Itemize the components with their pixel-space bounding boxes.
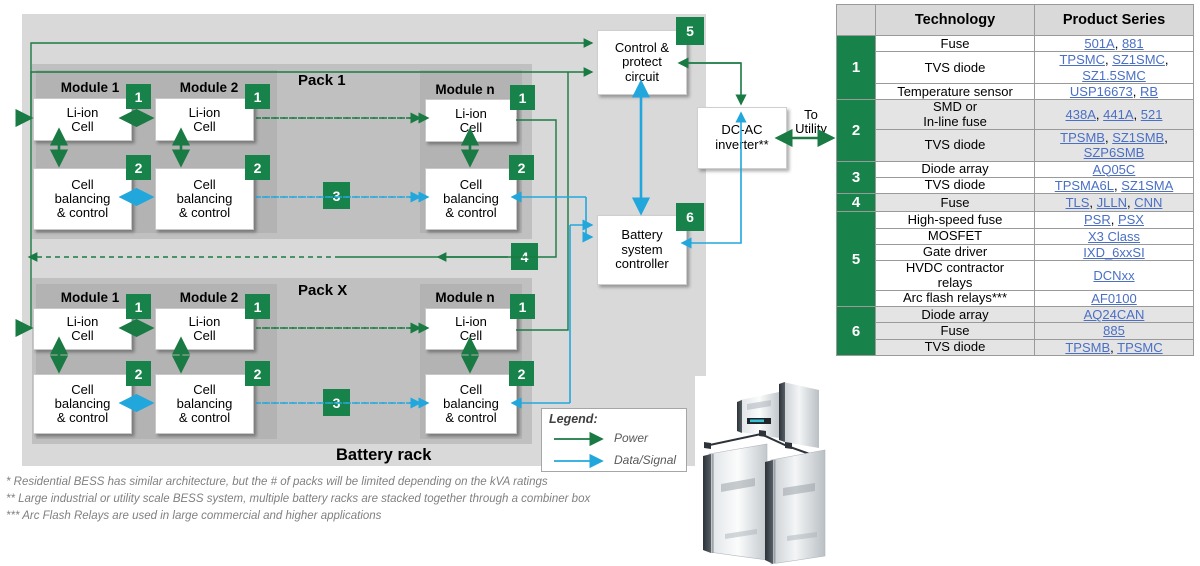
pack-x-module-2-cell: Li-ion Cell	[155, 308, 254, 350]
product-series-cell: 438A, 441A, 521	[1035, 100, 1194, 130]
product-link[interactable]: 501A	[1084, 36, 1114, 51]
group-number-2: 2	[837, 100, 876, 161]
technology-cell: Fuse	[876, 36, 1035, 52]
table-row: 1Fuse501A, 881	[837, 36, 1194, 52]
technology-cell: TVS diode	[876, 129, 1035, 161]
header-blank	[837, 5, 876, 36]
product-series-cell: TPSMC, SZ1SMC, SZ1.5SMC	[1035, 52, 1194, 84]
table-row: Arc flash relays***AF0100	[837, 290, 1194, 306]
separator: ,	[1115, 36, 1122, 51]
pack-x-bus-badge: 3	[323, 389, 350, 416]
inverter-label: DC-AC inverter**	[715, 123, 768, 152]
technology-cell: TVS diode	[876, 177, 1035, 193]
product-series-cell: 885	[1035, 323, 1194, 339]
product-series-cell: 501A, 881	[1035, 36, 1194, 52]
pack-x-module-n-cell: Li-ion Cell	[425, 308, 517, 350]
technology-cell: Fuse	[876, 194, 1035, 212]
to-utility-label: To Utility	[789, 108, 833, 137]
product-series-table: Technology Product Series 1Fuse501A, 881…	[836, 4, 1194, 356]
battery-system-controller-box: Battery system controller	[597, 215, 687, 285]
table-header-row: Technology Product Series	[837, 5, 1194, 36]
product-link[interactable]: AQ24CAN	[1084, 307, 1145, 322]
product-link[interactable]: TPSMC	[1059, 52, 1105, 67]
table-row: TVS diodeTPSMC, SZ1SMC, SZ1.5SMC	[837, 52, 1194, 84]
pack-x-module-2-cell-badge: 1	[245, 294, 270, 319]
group-number-1: 1	[837, 36, 876, 100]
technology-cell: Arc flash relays***	[876, 290, 1035, 306]
dc-ac-inverter-box: DC-AC inverter**	[697, 107, 787, 169]
footnotes: * Residential BESS has similar architect…	[6, 474, 706, 525]
table-row: 2SMD or In-line fuse438A, 441A, 521	[837, 100, 1194, 130]
table-body: 1Fuse501A, 881TVS diodeTPSMC, SZ1SMC, SZ…	[837, 36, 1194, 356]
pack-1-module-1-control: Cell balancing & control	[33, 168, 132, 230]
product-series-cell: IXD_6xxSI	[1035, 244, 1194, 260]
table-row: HVDC contractor relaysDCNxx	[837, 261, 1194, 291]
separator: ,	[1133, 84, 1140, 99]
table-row: 6Diode arrayAQ24CAN	[837, 307, 1194, 323]
product-series-cell: DCNxx	[1035, 261, 1194, 291]
pack-1-module-n-control-badge: 2	[509, 155, 534, 180]
control-label: Cell balancing & control	[443, 383, 499, 424]
product-link[interactable]: PSX	[1118, 212, 1144, 227]
product-link[interactable]: SZP6SMB	[1084, 145, 1145, 160]
bess-product-photo	[695, 376, 835, 566]
pack-1-module-1-cell-badge: 1	[126, 84, 151, 109]
product-series-cell: TPSMB, SZ1SMB, SZP6SMB	[1035, 129, 1194, 161]
control-label: Cell balancing & control	[55, 383, 111, 424]
pack-1-module-2-control-badge: 2	[245, 155, 270, 180]
cell-label: Li-ion Cell	[189, 106, 221, 134]
pack-x-module-1-cell: Li-ion Cell	[33, 308, 132, 350]
pack-1-label: Pack 1	[298, 72, 346, 89]
product-series-cell: TPSMA6L, SZ1SMA	[1035, 177, 1194, 193]
table-row: TVS diodeTPSMB, SZ1SMB, SZP6SMB	[837, 129, 1194, 161]
product-link[interactable]: PSR	[1084, 212, 1111, 227]
separator: ,	[1089, 195, 1096, 210]
pack-1-module-2-cell-badge: 1	[245, 84, 270, 109]
table-row: MOSFETX3 Class	[837, 228, 1194, 244]
product-link[interactable]: 881	[1122, 36, 1144, 51]
product-link[interactable]: JLLN	[1097, 195, 1127, 210]
pack-x-label: Pack X	[298, 282, 347, 299]
technology-cell: Fuse	[876, 323, 1035, 339]
pack-x-module-2-control-badge: 2	[245, 361, 270, 386]
pack-x-module-n-cell-badge: 1	[510, 294, 535, 319]
pack-1-module-2-cell: Li-ion Cell	[155, 98, 254, 141]
product-link[interactable]: SZ1SMB	[1112, 130, 1164, 145]
control-label: Cell balancing & control	[55, 178, 111, 219]
table-row: 3Diode arrayAQ05C	[837, 161, 1194, 177]
legend-item-power: Power	[614, 431, 648, 445]
table-row: TVS diodeTPSMA6L, SZ1SMA	[837, 177, 1194, 193]
product-series-cell: AF0100	[1035, 290, 1194, 306]
product-link[interactable]: SZ1SMA	[1121, 178, 1173, 193]
battery-system-controller-badge: 6	[676, 203, 704, 231]
cell-label: Li-ion Cell	[67, 315, 99, 343]
pack-x-module-n-title: Module n	[420, 290, 510, 305]
legend-title: Legend:	[549, 412, 598, 426]
pack-1-module-2-control: Cell balancing & control	[155, 168, 254, 230]
control-label: Cell balancing & control	[177, 178, 233, 219]
pack-1-module-n-title: Module n	[420, 82, 510, 97]
separator: ,	[1111, 212, 1118, 227]
product-link[interactable]: SZ1SMC	[1112, 52, 1165, 67]
table-row: 4FuseTLS, JLLN, CNN	[837, 194, 1194, 212]
legend-item-data-signal: Data/Signal	[614, 453, 676, 467]
pack-x-module-1-control: Cell balancing & control	[33, 374, 132, 434]
bess-architecture-diagram: Pack 1 Module 1 Li-ion Cell 1 Cell balan…	[0, 0, 836, 566]
pack-x-module-n-control: Cell balancing & control	[425, 374, 517, 434]
control-label: Cell balancing & control	[177, 383, 233, 424]
separator: ,	[1164, 130, 1168, 145]
table-row: Fuse885	[837, 323, 1194, 339]
product-series-cell: TPSMB, TPSMC	[1035, 339, 1194, 355]
cell-label: Li-ion Cell	[455, 315, 487, 343]
pack-1-module-1-control-badge: 2	[126, 155, 151, 180]
product-link[interactable]: TPSMA6L	[1055, 178, 1114, 193]
product-link[interactable]: TPSMB	[1065, 340, 1110, 355]
product-link[interactable]: IXD_6xxSI	[1083, 245, 1144, 260]
footnote-1: * Residential BESS has similar architect…	[6, 474, 706, 491]
product-link[interactable]: TLS	[1066, 195, 1090, 210]
footnote-2: ** Large industrial or utility scale BES…	[6, 491, 706, 508]
separator: ,	[1134, 107, 1141, 122]
technology-cell: Gate driver	[876, 244, 1035, 260]
group-number-3: 3	[837, 161, 876, 194]
header-product-series: Product Series	[1035, 5, 1194, 36]
technology-cell: TVS diode	[876, 339, 1035, 355]
pack-x-module-n-control-badge: 2	[509, 361, 534, 386]
technology-cell: MOSFET	[876, 228, 1035, 244]
product-series-cell: USP16673, RB	[1035, 83, 1194, 99]
pack-x-module-1-control-badge: 2	[126, 361, 151, 386]
pack-1-module-n-cell-badge: 1	[510, 85, 535, 110]
cell-label: Li-ion Cell	[189, 315, 221, 343]
product-link[interactable]: RB	[1140, 84, 1158, 99]
separator: ,	[1165, 52, 1169, 67]
pack-1-module-n-cell: Li-ion Cell	[425, 99, 517, 142]
pack-x-module-2-control: Cell balancing & control	[155, 374, 254, 434]
battery-rack-title: Battery rack	[336, 446, 431, 465]
bsc-label: Battery system controller	[615, 228, 668, 272]
table-row: TVS diodeTPSMB, TPSMC	[837, 339, 1194, 355]
technology-cell: SMD or In-line fuse	[876, 100, 1035, 130]
control-protect-badge: 5	[676, 17, 704, 45]
control-protect-circuit-box: Control & protect circuit	[597, 30, 687, 95]
header-technology: Technology	[876, 5, 1035, 36]
table-row: Gate driverIXD_6xxSI	[837, 244, 1194, 260]
product-link[interactable]: 438A	[1066, 107, 1096, 122]
technology-cell: Temperature sensor	[876, 83, 1035, 99]
legend-arrows	[552, 430, 612, 470]
product-link[interactable]: 441A	[1103, 107, 1133, 122]
product-link[interactable]: AQ05C	[1093, 162, 1136, 177]
table-row: 5High-speed fusePSR, PSX	[837, 212, 1194, 228]
pack-1-output-badge: 4	[511, 243, 538, 270]
cell-label: Li-ion Cell	[455, 107, 487, 135]
technology-cell: HVDC contractor relays	[876, 261, 1035, 291]
product-series-table-wrap: Technology Product Series 1Fuse501A, 881…	[836, 4, 1196, 564]
pack-x-module-1-cell-badge: 1	[126, 294, 151, 319]
technology-cell: Diode array	[876, 307, 1035, 323]
group-number-5: 5	[837, 212, 876, 307]
group-number-4: 4	[837, 194, 876, 212]
product-link[interactable]: TPSMC	[1117, 340, 1163, 355]
product-link[interactable]: USP16673	[1070, 84, 1133, 99]
pack-1-module-1-cell: Li-ion Cell	[33, 98, 132, 141]
product-link[interactable]: TPSMB	[1060, 130, 1105, 145]
footnote-3: *** Arc Flash Relays are used in large c…	[6, 508, 706, 525]
product-link[interactable]: 521	[1141, 107, 1163, 122]
group-number-6: 6	[837, 307, 876, 356]
product-series-cell: AQ05C	[1035, 161, 1194, 177]
product-link[interactable]: CNN	[1134, 195, 1162, 210]
cell-label: Li-ion Cell	[67, 106, 99, 134]
product-series-cell: PSR, PSX	[1035, 212, 1194, 228]
product-series-cell: AQ24CAN	[1035, 307, 1194, 323]
product-link[interactable]: SZ1.5SMC	[1082, 68, 1146, 83]
product-series-cell: X3 Class	[1035, 228, 1194, 244]
pack-1-bus-badge: 3	[323, 182, 350, 209]
table-row: Temperature sensorUSP16673, RB	[837, 83, 1194, 99]
technology-cell: TVS diode	[876, 52, 1035, 84]
control-label: Cell balancing & control	[443, 178, 499, 219]
technology-cell: High-speed fuse	[876, 212, 1035, 228]
product-series-cell: TLS, JLLN, CNN	[1035, 194, 1194, 212]
pack-1-module-n-control: Cell balancing & control	[425, 168, 517, 230]
product-link[interactable]: 885	[1103, 323, 1125, 338]
product-link[interactable]: AF0100	[1091, 291, 1137, 306]
technology-cell: Diode array	[876, 161, 1035, 177]
control-protect-label: Control & protect circuit	[615, 41, 669, 85]
product-link[interactable]: X3 Class	[1088, 229, 1140, 244]
product-link[interactable]: DCNxx	[1093, 268, 1134, 283]
